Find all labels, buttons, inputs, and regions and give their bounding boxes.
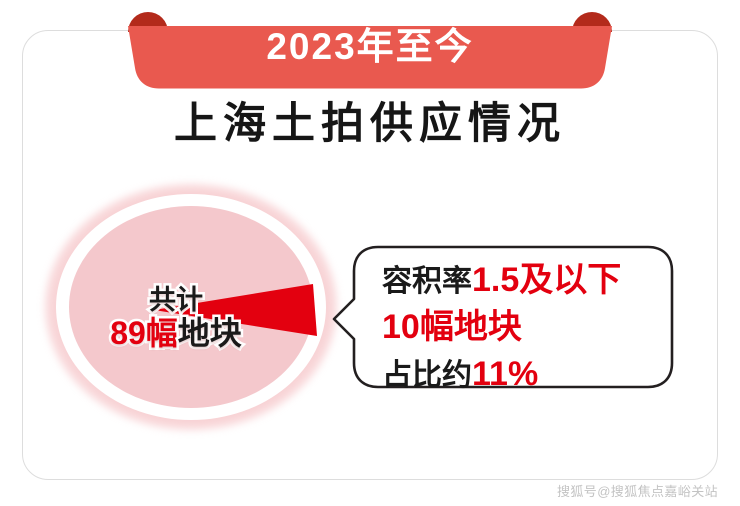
callout-line3-value: 11%: [472, 355, 538, 393]
callout-line1-prefix: 容积率: [382, 265, 472, 298]
callout-line-2: 10幅地块: [382, 307, 668, 354]
pie-total-prefix: 共计: [149, 285, 203, 315]
pie-chart: 共计 89幅地块: [36, 176, 346, 438]
infographic-canvas: 2023年至今 上海土拍供应情况 共计 89幅地块 容积率1.5: [0, 0, 740, 506]
pie-total-unit: 地块: [178, 315, 242, 351]
callout-bubble: 容积率1.5及以下 10幅地块 占比约11%: [332, 243, 676, 391]
callout-line2-value: 10幅地块: [382, 308, 522, 346]
page-title: 上海土拍供应情况: [0, 96, 740, 152]
callout-line3-prefix: 占比约: [382, 359, 472, 392]
callout-line-1: 容积率1.5及以下: [382, 260, 668, 307]
pie-total-value: 89幅: [110, 315, 178, 351]
callout-line1-value: 1.5及以下: [472, 261, 621, 299]
pie-center-label: 共计 89幅地块: [76, 286, 276, 351]
callout-line-3: 占比约11%: [382, 354, 668, 401]
source-watermark: 搜狐号@搜狐焦点嘉峪关站: [557, 481, 718, 500]
ribbon-banner: 2023年至今: [128, 12, 612, 90]
ribbon-title: 2023年至今: [128, 24, 612, 70]
callout-text-block: 容积率1.5及以下 10幅地块 占比约11%: [382, 260, 668, 401]
